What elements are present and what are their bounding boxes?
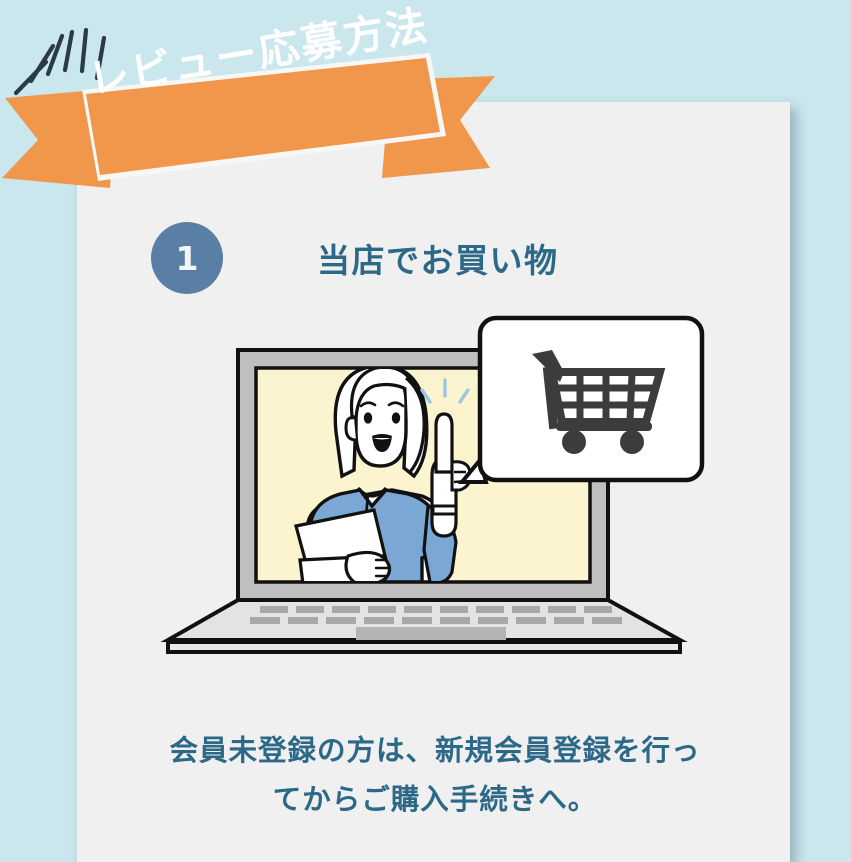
- page-root: レビュー応募方法 1 当店でお買い物: [0, 0, 851, 851]
- step-number-badge: 1: [151, 222, 223, 294]
- caption-line-1: 会員未登録の方は、新規会員登録を行っ: [110, 726, 760, 775]
- step-header: 1 当店でお買い物: [77, 222, 790, 298]
- step-number-text: 1: [176, 239, 199, 278]
- caption-line-2: てからご購入手続きへ。: [110, 775, 760, 824]
- caption-text: 会員未登録の方は、新規会員登録を行っ てからご購入手続きへ。: [110, 726, 760, 824]
- speech-bubble: [462, 318, 702, 482]
- ribbon-banner: [0, 28, 510, 188]
- laptop-shopping-illustration: [160, 310, 720, 680]
- trackpad: [356, 627, 506, 640]
- step-title: 当店でお買い物: [317, 234, 559, 282]
- laptop-base: [168, 600, 680, 652]
